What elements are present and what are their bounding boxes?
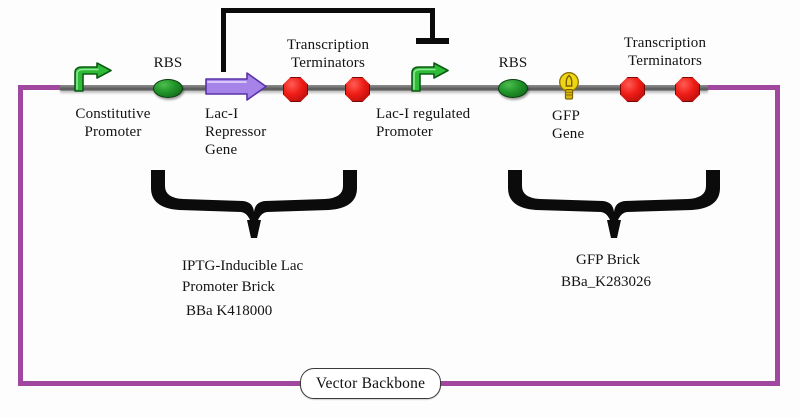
- brick-name-iptg-inducible-lac-promoter: IPTG-Inducible Lac Promoter Brick: [182, 256, 362, 298]
- vector-backbone-right-segment: [775, 85, 780, 386]
- repression-bar-icon: [416, 38, 449, 44]
- vector-backbone-top-right-segment: [700, 85, 780, 90]
- label-rbs-1: RBS: [138, 54, 198, 72]
- promoter-arrow-icon-constitutive[interactable]: [68, 62, 112, 92]
- repression-link-riser: [221, 10, 226, 72]
- brace-iptg-inducible-lac-promoter-brick: [145, 168, 363, 238]
- genetic-circuit-diagram: Constitutive Promoter RBS Lac-I Represso…: [0, 0, 800, 418]
- brace-gfp-brick: [502, 168, 726, 238]
- gene-arrow-icon-lac-i-repressor[interactable]: [205, 72, 267, 107]
- label-gfp-gene: GFP Gene: [552, 107, 622, 143]
- vector-backbone-label-text: Vector Backbone: [316, 375, 425, 393]
- label-constitutive-promoter: Constitutive Promoter: [58, 105, 168, 141]
- brick-part-number-gfp: BBa_K283026: [561, 272, 751, 293]
- label-transcription-terminators-left: Transcription Terminators: [263, 36, 393, 72]
- vector-backbone-label: Vector Backbone: [300, 368, 441, 399]
- rbs-ellipse-icon-1[interactable]: [153, 79, 183, 98]
- promoter-arrow-icon-lac-i-regulated[interactable]: [405, 62, 449, 92]
- brick-name-gfp: GFP Brick: [576, 250, 736, 271]
- label-lac-i-repressor-gene: Lac-I Repressor Gene: [205, 105, 315, 159]
- vector-backbone-left-segment: [18, 85, 23, 386]
- brick-part-number-iptg-inducible-lac-promoter: BBa K418000: [186, 301, 366, 322]
- rbs-ellipse-icon-2[interactable]: [498, 79, 528, 98]
- terminator-octagon-icon-2[interactable]: [345, 77, 370, 102]
- label-transcription-terminators-right: Transcription Terminators: [600, 34, 730, 70]
- label-rbs-2: RBS: [483, 54, 543, 72]
- repression-link-descender: [430, 8, 435, 40]
- repression-link-crossbar: [221, 8, 435, 13]
- terminator-octagon-icon-4[interactable]: [675, 77, 700, 102]
- terminator-octagon-icon-3[interactable]: [620, 77, 645, 102]
- label-lac-i-regulated-promoter: Lac-I regulated Promoter: [376, 105, 506, 141]
- terminator-octagon-icon-1[interactable]: [283, 77, 308, 102]
- lightbulb-icon-gfp-gene[interactable]: [558, 71, 580, 101]
